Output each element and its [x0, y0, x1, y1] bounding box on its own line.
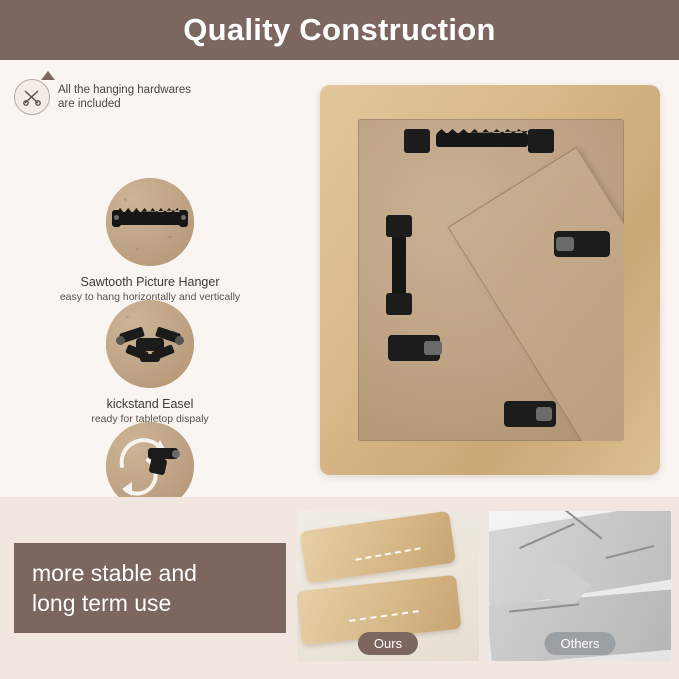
header-banner: Quality Construction: [0, 0, 679, 60]
features-column: All the hanging hardwares are included: [0, 60, 300, 497]
main-content: All the hanging hardwares are included: [0, 60, 679, 497]
claim-box: more stable and long term use: [14, 543, 286, 633]
hanger-plate-left: [404, 129, 430, 153]
kickstand-easel-icon: [106, 300, 194, 388]
page-title: Quality Construction: [183, 12, 496, 48]
clip-left-vertical: [392, 229, 406, 299]
product-infographic: Quality Construction All the hanging har…: [0, 0, 679, 679]
sawtooth-hanger: [436, 133, 528, 147]
main-photo: [300, 60, 679, 497]
feature-title: Sawtooth Picture Hanger: [0, 275, 300, 289]
wood-frame-outer: [320, 85, 660, 475]
badge-pointer: [41, 71, 55, 80]
feature-title: kickstand Easel: [0, 397, 300, 411]
comparison-band: more stable and long term use Ours Other…: [0, 497, 679, 679]
others-photo: Others: [489, 511, 671, 661]
claim-line-1: more stable and: [32, 560, 197, 586]
ours-label: Ours: [358, 632, 418, 655]
feature-kickstand-easel: kickstand Easel ready for tabletop dispa…: [0, 300, 300, 425]
feature-sawtooth-hanger: Sawtooth Picture Hanger easy to hang hor…: [0, 178, 300, 303]
hanger-plate-right: [528, 129, 554, 153]
ours-photo: Ours: [297, 511, 479, 661]
frame-backing-board: [358, 119, 624, 441]
claim-text: more stable and long term use: [32, 558, 197, 618]
hanging-hardware-icon: [14, 79, 50, 115]
kickstand-panel: [448, 147, 624, 441]
note-text: All the hanging hardwares are included: [58, 83, 191, 111]
claim-line-2: long term use: [32, 590, 171, 616]
sawtooth-hanger-icon: [106, 178, 194, 266]
note-line-2: are included: [58, 97, 191, 111]
note-line-1: All the hanging hardwares: [58, 83, 191, 97]
others-label: Others: [544, 632, 615, 655]
hardware-included-note: All the hanging hardwares are included: [14, 74, 284, 120]
